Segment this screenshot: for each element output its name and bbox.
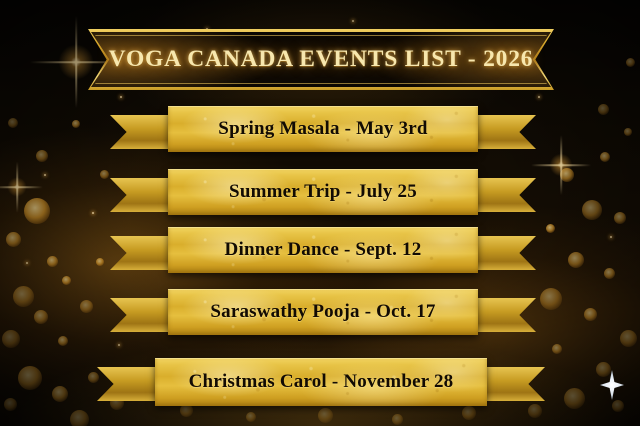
- event-ribbon[interactable]: Christmas Carol - November 28: [155, 358, 487, 406]
- event-ribbon[interactable]: Spring Masala - May 3rd: [168, 106, 478, 152]
- event-ribbon[interactable]: Saraswathy Pooja - Oct. 17: [168, 289, 478, 335]
- event-poster: VOGA CANADA EVENTS LIST - 2026 Spring Ma…: [0, 0, 640, 426]
- page-title: VOGA CANADA EVENTS LIST - 2026: [88, 29, 554, 90]
- event-label: Summer Trip - July 25: [168, 169, 478, 215]
- event-ribbon[interactable]: Summer Trip - July 25: [168, 169, 478, 215]
- event-label: Dinner Dance - Sept. 12: [168, 227, 478, 273]
- event-label: Christmas Carol - November 28: [155, 358, 487, 406]
- event-label: Spring Masala - May 3rd: [168, 106, 478, 152]
- title-banner: VOGA CANADA EVENTS LIST - 2026: [88, 29, 554, 90]
- event-ribbon[interactable]: Dinner Dance - Sept. 12: [168, 227, 478, 273]
- event-label: Saraswathy Pooja - Oct. 17: [168, 289, 478, 335]
